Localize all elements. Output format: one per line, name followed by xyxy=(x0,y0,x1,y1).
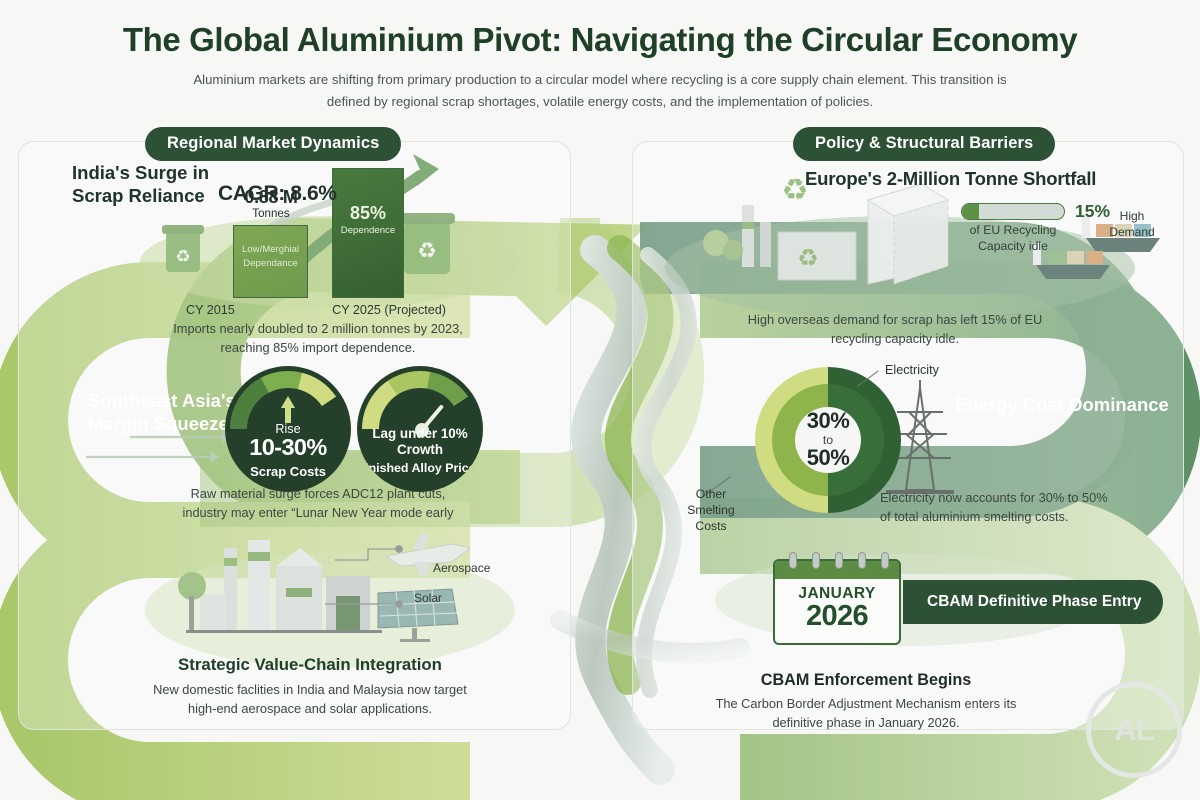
bar-cy2025-inner-group: 85% Dependence xyxy=(333,203,403,236)
southeast-asia-caption: Raw material surge forces ADC12 plant cu… xyxy=(168,484,468,522)
bar-cy2025-sub: Dependence xyxy=(333,225,403,236)
cbam-calendar-icon: JANUARY 2026 xyxy=(773,559,901,645)
gauge-scrap-costs-value: 10-30% xyxy=(225,434,351,461)
donut-label-other-smelting: Other Smelting Costs xyxy=(676,487,746,535)
calendar-ring-5 xyxy=(881,552,889,569)
donut-label-electricity: Electricity xyxy=(885,363,939,377)
gauge-finished-alloy-label: Finished Alloy Prices xyxy=(357,461,483,475)
cbam-caption: The Carbon Border Adjustment Mechanism e… xyxy=(706,694,1026,732)
bar-cy2025-pct: 85% xyxy=(333,203,403,224)
cbam-caption-block: CBAM Enforcement Begins The Carbon Borde… xyxy=(706,668,1026,733)
axis-label-cy2025: CY 2025 (Projected) xyxy=(332,303,446,317)
gauge-finished-alloy-prices: Lag under 10% Crowth Finished Alloy Pric… xyxy=(357,366,483,492)
calendar-year: 2026 xyxy=(775,600,899,633)
donut-center-label: 30% to 50% xyxy=(795,407,861,473)
eu-idle-capacity-fill xyxy=(962,204,979,219)
panel-title-policy-structural-barriers: Policy & Structural Barriers xyxy=(793,127,1055,161)
watermark-logo: AL xyxy=(1086,682,1182,778)
calendar-ring-4 xyxy=(858,552,866,569)
gauge-scrap-costs-label: Scrap Costs xyxy=(225,464,351,479)
bar-cy2015-inner-label: Low/Merghial Dependance xyxy=(234,243,307,271)
gauge-scrap-costs: Rise 10-30% Scrap Costs xyxy=(225,366,351,492)
cbam-phase-badge: CBAM Definitive Phase Entry xyxy=(903,580,1163,624)
india-scrap-bar-chart: Low/Merghial Dependance 85% Dependence 0… xyxy=(200,150,560,298)
gauge-finished-alloy-value: Lag under 10% Crowth xyxy=(357,426,483,459)
eu-idle-capacity-caption: of EU Recycling Capacity idle xyxy=(953,222,1073,255)
label-aerospace: Aerospace xyxy=(433,561,490,575)
panel-title-regional-market-dynamics: Regional Market Dynamics xyxy=(145,127,401,161)
cagr-callout: CAGR: 8.6% xyxy=(218,182,337,206)
bar-cy2015: Low/Merghial Dependance xyxy=(233,225,308,298)
value-chain-caption-block: Strategic Value-Chain Integration New do… xyxy=(140,652,480,719)
cbam-title: CBAM Enforcement Begins xyxy=(706,668,1026,692)
header: The Global Aluminium Pivot: Navigating t… xyxy=(0,22,1200,112)
calendar-ring-1 xyxy=(789,552,797,569)
calendar-ring-2 xyxy=(812,552,820,569)
energy-cost-caption: Electricity now accounts for 30% to 50% … xyxy=(880,488,1110,526)
value-chain-title: Strategic Value-Chain Integration xyxy=(140,652,480,677)
energy-cost-dominance-heading: Energy Cost Dominance xyxy=(955,393,1169,416)
donut-value-top: 30% xyxy=(807,410,850,432)
calendar-ring-3 xyxy=(835,552,843,569)
value-chain-caption: New domestic faclities in India and Mala… xyxy=(140,680,480,718)
label-solar: Solar xyxy=(414,591,442,605)
up-arrow-icon xyxy=(281,396,295,408)
eu-idle-capacity-progress xyxy=(961,203,1065,220)
infographic-canvas: ♻ ♻ ♻ ♻ xyxy=(0,0,1200,800)
europe-caption: High overseas demand for scrap has left … xyxy=(730,310,1060,348)
page-subtitle: Aluminium markets are shifting from prim… xyxy=(170,69,1030,112)
label-high-demand: High Demand xyxy=(1097,208,1167,240)
bar-cy2015-unit: Tonnes xyxy=(211,207,331,220)
europe-shortfall-heading: Europe's 2-Million Tonne Shortfall xyxy=(805,168,1096,190)
donut-value-bottom: 50% xyxy=(807,447,850,469)
bar-cy2025: 85% Dependence xyxy=(332,168,404,298)
india-axis-labels: CY 2015 CY 2025 (Projected) xyxy=(186,303,446,317)
page-title: The Global Aluminium Pivot: Navigating t… xyxy=(0,22,1200,58)
india-caption: Imports nearly doubled to 2 million tonn… xyxy=(168,319,468,357)
axis-label-cy2015: CY 2015 xyxy=(186,303,235,317)
